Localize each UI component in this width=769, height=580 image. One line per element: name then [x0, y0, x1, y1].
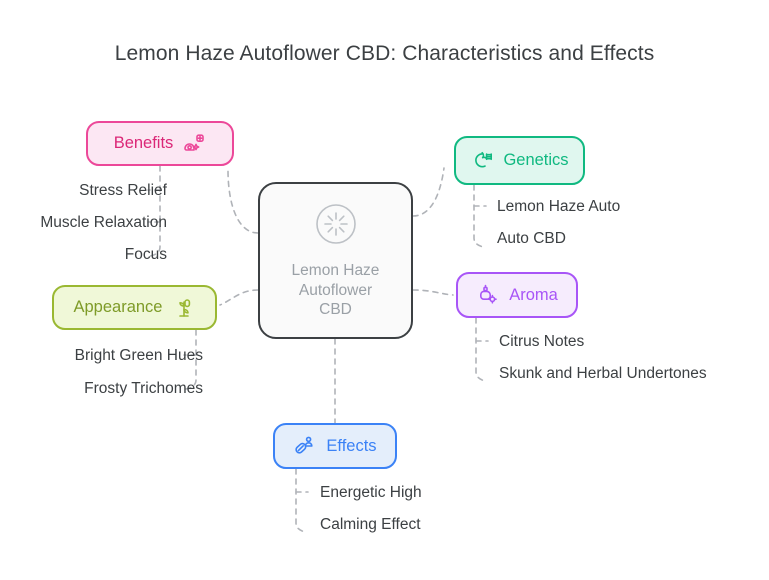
- central-node[interactable]: Lemon Haze Autoflower CBD: [258, 182, 413, 339]
- connector-genetics: [413, 168, 444, 216]
- connector-benefits: [228, 170, 258, 233]
- branch-node-appearance[interactable]: Appearance: [52, 285, 217, 330]
- perfume-flower-icon: [476, 283, 500, 307]
- branch-label-effects: Effects: [326, 438, 376, 455]
- branch-node-benefits[interactable]: Benefits: [86, 121, 234, 166]
- connector-genetics-stem: [474, 185, 484, 247]
- connector-appearance: [220, 290, 258, 305]
- sub-item-aroma-0[interactable]: Citrus Notes: [499, 334, 584, 350]
- sub-item-appearance-0[interactable]: Bright Green Hues: [75, 348, 203, 364]
- sub-item-appearance-1[interactable]: Frosty Trichomes: [84, 381, 203, 397]
- dna-seed-icon: [470, 149, 494, 173]
- branch-label-genetics: Genetics: [503, 152, 568, 169]
- health-sparkle-icon: [182, 132, 206, 156]
- connector-aroma-stem: [476, 318, 486, 381]
- sub-item-benefits-0[interactable]: Stress Relief: [79, 183, 167, 199]
- sun-burst-icon: [313, 201, 359, 252]
- sub-item-genetics-1[interactable]: Auto CBD: [497, 231, 566, 247]
- central-line-3: CBD: [292, 300, 380, 320]
- connector-aroma: [413, 290, 453, 295]
- page-title: Lemon Haze Autoflower CBD: Characteristi…: [0, 42, 769, 66]
- sub-item-benefits-2[interactable]: Focus: [125, 247, 167, 263]
- connector-benefits-stem: [150, 166, 160, 256]
- branch-node-aroma[interactable]: Aroma: [456, 272, 578, 318]
- plant-sprout-icon: [172, 296, 196, 320]
- branch-label-appearance: Appearance: [74, 299, 163, 316]
- branch-label-benefits: Benefits: [114, 135, 174, 152]
- central-line-1: Lemon Haze: [292, 261, 380, 281]
- sub-item-effects-0[interactable]: Energetic High: [320, 485, 422, 501]
- branch-label-aroma: Aroma: [509, 287, 558, 304]
- pill-person-icon: [293, 434, 317, 458]
- branch-node-genetics[interactable]: Genetics: [454, 136, 585, 185]
- branch-node-effects[interactable]: Effects: [273, 423, 397, 469]
- sub-item-aroma-1[interactable]: Skunk and Herbal Undertones: [499, 366, 707, 382]
- central-node-label: Lemon Haze Autoflower CBD: [292, 261, 380, 320]
- mindmap-canvas: Lemon Haze Autoflower CBD: Characteristi…: [0, 0, 769, 580]
- sub-item-effects-1[interactable]: Calming Effect: [320, 517, 421, 533]
- connector-effects-stem: [296, 469, 306, 532]
- central-line-2: Autoflower: [292, 281, 380, 301]
- sub-item-genetics-0[interactable]: Lemon Haze Auto: [497, 199, 620, 215]
- sub-item-benefits-1[interactable]: Muscle Relaxation: [40, 215, 167, 231]
